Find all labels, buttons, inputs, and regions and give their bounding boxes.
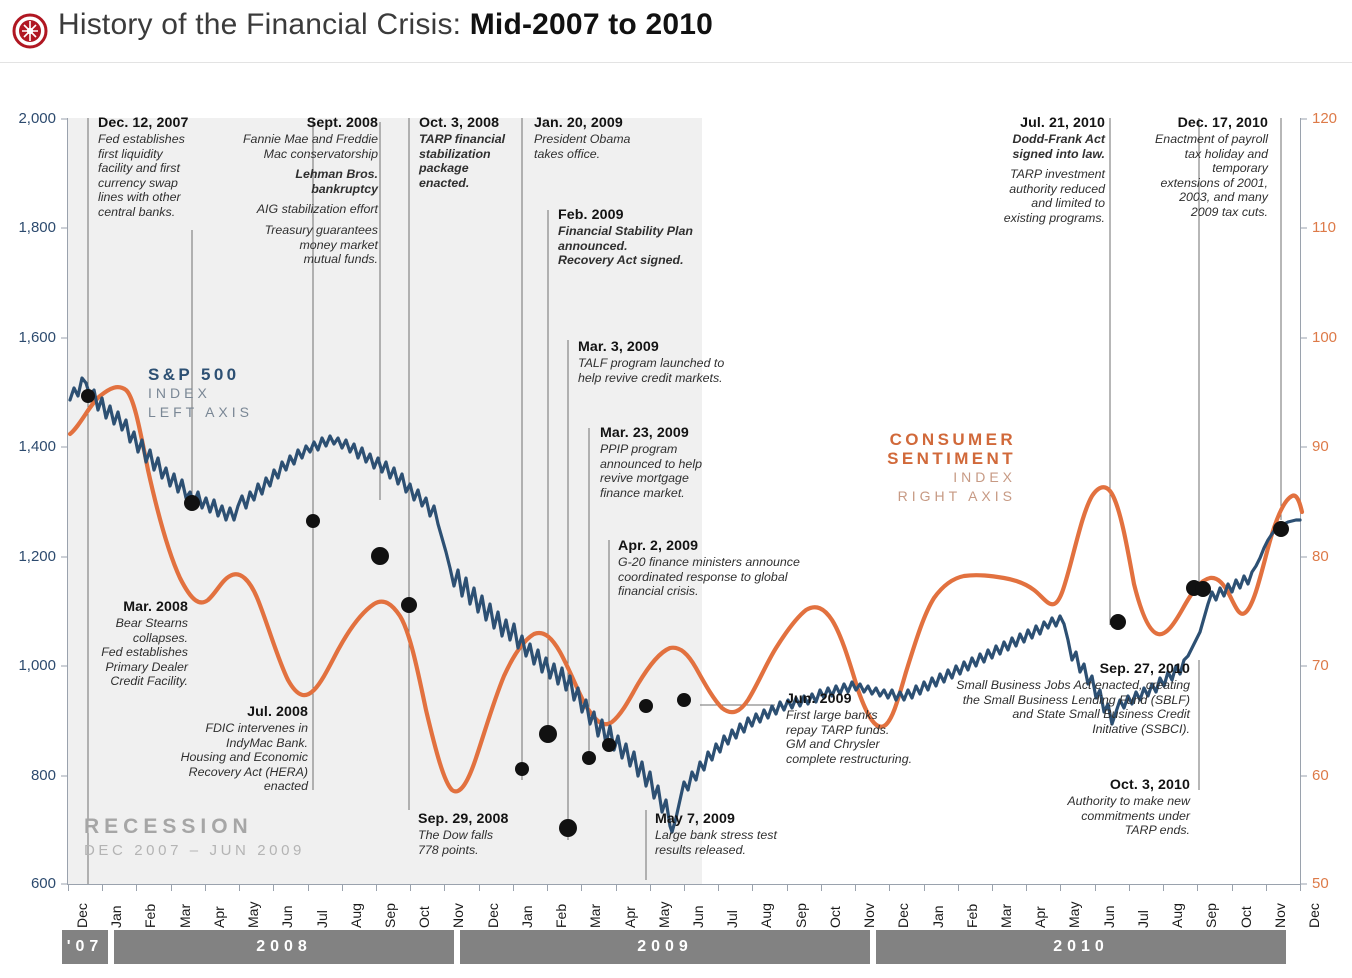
annotation-date: Jul. 21, 2010 bbox=[975, 114, 1105, 132]
annotation-line: TARP ends. bbox=[1020, 823, 1190, 838]
x-axis-month-label: Apr bbox=[211, 906, 227, 928]
annotation-line: coordinated response to global bbox=[618, 570, 833, 585]
x-axis-tick bbox=[684, 885, 685, 891]
annotation-line: and State Small Business Credit bbox=[905, 707, 1190, 722]
annotation-line: Primary Dealer bbox=[86, 660, 188, 675]
annotation-line: stabilization bbox=[419, 147, 524, 162]
left-tick-label: 1,400 bbox=[0, 438, 56, 455]
recession-range: DEC 2007 – JUN 2009 bbox=[84, 839, 305, 863]
annotation-date: Mar. 2008 bbox=[86, 598, 188, 616]
annotation-line: package bbox=[419, 161, 524, 176]
annotation-sep-29-2008: Sep. 29, 2008 The Dow falls778 points. bbox=[418, 810, 548, 857]
sentiment-axis-text: RIGHT AXIS bbox=[868, 487, 1016, 506]
annotation-body: Fannie Mae and FreddieMac conservatorshi… bbox=[218, 132, 378, 267]
sp500-index-text: INDEX bbox=[148, 384, 253, 403]
x-axis-tick bbox=[1095, 885, 1096, 891]
annotation-line: Dodd-Frank Act bbox=[975, 132, 1105, 147]
sp500-series-label: S&P 500 INDEX LEFT AXIS bbox=[148, 365, 253, 422]
x-axis-tick bbox=[1232, 885, 1233, 891]
x-axis-tick bbox=[1300, 885, 1301, 891]
left-tick-label: 1,600 bbox=[0, 329, 56, 346]
x-axis-tick bbox=[958, 885, 959, 891]
annotation-line: President Obama bbox=[534, 132, 669, 147]
annotation-body: G-20 finance ministers announcecoordinat… bbox=[618, 555, 833, 599]
annotation-line: 2003, and many bbox=[1128, 190, 1268, 205]
x-axis-month-label: Jun bbox=[690, 905, 706, 928]
x-axis-month-label: Oct bbox=[416, 906, 432, 928]
annotation-line: results released. bbox=[655, 843, 800, 858]
x-axis-tick bbox=[273, 885, 274, 891]
annotation-line: enacted. bbox=[419, 176, 524, 191]
x-axis-tick bbox=[718, 885, 719, 891]
x-axis-tick bbox=[889, 885, 890, 891]
x-axis-tick bbox=[855, 885, 856, 891]
x-axis-month-label: May bbox=[1066, 902, 1082, 928]
annotation-sep-27-2010: Sep. 27, 2010 Small Business Jobs Act en… bbox=[905, 660, 1190, 736]
year-segment: 2008 bbox=[114, 930, 454, 964]
left-tick-label: 1,800 bbox=[0, 219, 56, 236]
annotation-line: Authority to make new bbox=[1020, 794, 1190, 809]
x-axis-month-label: Dec bbox=[895, 903, 911, 928]
left-tick-label: 800 bbox=[0, 767, 56, 784]
annotation-body: Bear Stearnscollapses.Fed establishesPri… bbox=[86, 616, 188, 689]
annotation-body: Enactment of payrolltax holiday andtempo… bbox=[1128, 132, 1268, 220]
x-axis-month-label: Dec bbox=[485, 903, 501, 928]
annotation-date: Oct. 3, 2010 bbox=[1020, 776, 1190, 794]
annotation-oct-3-2008: Oct. 3, 2008 TARP financialstabilization… bbox=[419, 114, 524, 190]
x-axis-tick bbox=[513, 885, 514, 891]
left-tick-label: 1,000 bbox=[0, 657, 56, 674]
annotation-body: Small Business Jobs Act enacted, creatin… bbox=[905, 678, 1190, 736]
annotation-line: Fed establishes bbox=[86, 645, 188, 660]
annotation-line: AIG stabilization effort bbox=[218, 202, 378, 217]
x-axis-tick bbox=[1197, 885, 1198, 891]
annotation-feb-2009: Feb. 2009 Financial Stability Planannoun… bbox=[558, 206, 738, 268]
annotation-line: Recovery Act (HERA) enacted bbox=[148, 765, 308, 794]
x-axis-month-label: Nov bbox=[861, 903, 877, 928]
year-segment: '07 bbox=[62, 930, 108, 964]
annotation-line: TARP financial bbox=[419, 132, 524, 147]
sp500-name: S&P 500 bbox=[148, 365, 253, 384]
x-axis-tick bbox=[924, 885, 925, 891]
annotation-date: May 7, 2009 bbox=[655, 810, 800, 828]
annotation-line: help revive credit markets. bbox=[578, 371, 768, 386]
annotation-oct-3-2010: Oct. 3, 2010 Authority to make newcommit… bbox=[1020, 776, 1190, 838]
sentiment-name2: SENTIMENT bbox=[868, 449, 1016, 468]
annotation-line: Fed establishes bbox=[98, 132, 218, 147]
x-axis-month-label: Oct bbox=[1238, 906, 1254, 928]
sentiment-series-label: CONSUMER SENTIMENT INDEX RIGHT AXIS bbox=[868, 430, 1016, 506]
x-axis-month-label: Apr bbox=[622, 906, 638, 928]
x-axis-month-label: Jul bbox=[314, 910, 330, 928]
right-tick-label: 80 bbox=[1312, 548, 1352, 565]
annotation-line: financial crisis. bbox=[618, 584, 833, 599]
annotation-line: signed into law. bbox=[975, 147, 1105, 162]
annotation-line: TARP investment bbox=[975, 167, 1105, 182]
x-axis-tick bbox=[581, 885, 582, 891]
sp500-axis-text: LEFT AXIS bbox=[148, 403, 253, 422]
x-axis-tick bbox=[239, 885, 240, 891]
annotation-jul-2008: Jul. 2008 FDIC intervenes inIndyMac Bank… bbox=[148, 703, 308, 794]
sentiment-name: CONSUMER bbox=[868, 430, 1016, 449]
annotation-line: mutual funds. bbox=[218, 252, 378, 267]
annotation-body: Authority to make newcommitments underTA… bbox=[1020, 794, 1190, 838]
annotation-line: 2009 tax cuts. bbox=[1128, 205, 1268, 220]
annotation-dec-12-2007: Dec. 12, 2007 Fed establishesfirst liqui… bbox=[98, 114, 218, 220]
annotation-line: authority reduced bbox=[975, 182, 1105, 197]
x-axis-tick bbox=[787, 885, 788, 891]
x-axis-tick bbox=[1060, 885, 1061, 891]
annotation-line: Large bank stress test bbox=[655, 828, 800, 843]
annotation-line: finance market. bbox=[600, 486, 735, 501]
annotation-line: TALF program launched to bbox=[578, 356, 768, 371]
x-axis-month-label: Sep bbox=[382, 903, 398, 928]
annotation-mar-2008: Mar. 2008 Bear Stearnscollapses.Fed esta… bbox=[86, 598, 188, 689]
annotation-body: TARP financialstabilizationpackageenacte… bbox=[419, 132, 524, 190]
x-axis-month-label: Mar bbox=[177, 904, 193, 928]
right-tick-label: 60 bbox=[1312, 767, 1352, 784]
right-tick-label: 100 bbox=[1312, 329, 1352, 346]
x-axis-tick bbox=[342, 885, 343, 891]
annotation-line: commitments under bbox=[1020, 809, 1190, 824]
x-axis-tick bbox=[616, 885, 617, 891]
x-axis-month-label: Jan bbox=[108, 905, 124, 928]
annotation-line: money market bbox=[218, 238, 378, 253]
annotation-body: Large bank stress testresults released. bbox=[655, 828, 800, 857]
annotation-line: first liquidity bbox=[98, 147, 218, 162]
annotation-dec-17-2010: Dec. 17, 2010 Enactment of payrolltax ho… bbox=[1128, 114, 1268, 220]
annotation-line: The Dow falls bbox=[418, 828, 548, 843]
x-axis-month-label: Nov bbox=[450, 903, 466, 928]
x-axis-tick bbox=[1026, 885, 1027, 891]
x-axis-tick bbox=[136, 885, 137, 891]
x-axis-tick bbox=[1163, 885, 1164, 891]
annotation-date: Sep. 27, 2010 bbox=[905, 660, 1190, 678]
x-axis-month-label: Nov bbox=[1272, 903, 1288, 928]
x-axis-tick bbox=[821, 885, 822, 891]
annotation-body: TALF program launched tohelp revive cred… bbox=[578, 356, 768, 385]
x-axis-tick bbox=[752, 885, 753, 891]
annotation-line: revive mortgage bbox=[600, 471, 735, 486]
annotation-body: The Dow falls778 points. bbox=[418, 828, 548, 857]
x-axis-month-label: Aug bbox=[1169, 903, 1185, 928]
left-tick-label: 1,200 bbox=[0, 548, 56, 565]
annotation-line: currency swap bbox=[98, 176, 218, 191]
x-axis-month-label: Jul bbox=[724, 910, 740, 928]
annotation-line: extensions of 2001, bbox=[1128, 176, 1268, 191]
sentiment-index-text: INDEX bbox=[868, 468, 1016, 487]
annotation-line: tax holiday and bbox=[1128, 147, 1268, 162]
annotation-date: Mar. 23, 2009 bbox=[600, 424, 735, 442]
annotation-line: the Small Business Lending Fund (SBLF) bbox=[905, 693, 1190, 708]
annotation-line: Fannie Mae and Freddie bbox=[218, 132, 378, 147]
x-axis-tick bbox=[102, 885, 103, 891]
annotation-jan-20-2009: Jan. 20, 2009 President Obamatakes offic… bbox=[534, 114, 669, 161]
left-tick-label: 600 bbox=[0, 875, 56, 892]
annotation-date: Jan. 20, 2009 bbox=[534, 114, 669, 132]
annotation-line: temporary bbox=[1128, 161, 1268, 176]
x-axis-tick bbox=[1129, 885, 1130, 891]
x-axis-month-label: Apr bbox=[1032, 906, 1048, 928]
annotation-line: takes office. bbox=[534, 147, 669, 162]
annotation-jul-21-2010: Jul. 21, 2010 Dodd-Frank Actsigned into … bbox=[975, 114, 1105, 226]
annotation-mar-3-2009: Mar. 3, 2009 TALF program launched tohel… bbox=[578, 338, 768, 385]
annotation-line: Bear Stearns bbox=[86, 616, 188, 631]
annotation-line: Initiative (SSBCI). bbox=[905, 722, 1190, 737]
x-axis-month-label: Feb bbox=[142, 904, 158, 928]
x-axis-month-label: Jan bbox=[930, 905, 946, 928]
annotation-body: President Obamatakes office. bbox=[534, 132, 669, 161]
annotation-body: Financial Stability Planannounced.Recove… bbox=[558, 224, 738, 268]
x-axis-month-label: May bbox=[245, 902, 261, 928]
x-axis-month-label: Jan bbox=[519, 905, 535, 928]
x-axis-tick bbox=[376, 885, 377, 891]
annotation-date: Feb. 2009 bbox=[558, 206, 738, 224]
annotation-body: Fed establishesfirst liquidityfacility a… bbox=[98, 132, 218, 220]
annotation-line: existing programs. bbox=[975, 211, 1105, 226]
left-tick-label: 2,000 bbox=[0, 110, 56, 127]
annotation-line: central banks. bbox=[98, 205, 218, 220]
x-axis-tick bbox=[1266, 885, 1267, 891]
right-tick-label: 110 bbox=[1312, 219, 1352, 236]
x-axis-tick bbox=[479, 885, 480, 891]
x-axis-month-label: Jul bbox=[1135, 910, 1151, 928]
x-axis-tick bbox=[308, 885, 309, 891]
x-axis-month-label: Sep bbox=[1203, 903, 1219, 928]
annotation-may-7-2009: May 7, 2009 Large bank stress testresult… bbox=[655, 810, 800, 857]
x-axis-tick bbox=[992, 885, 993, 891]
x-axis-month-label: May bbox=[656, 902, 672, 928]
annotation-line: Housing and Economic bbox=[148, 750, 308, 765]
x-axis-month-label: Sep bbox=[793, 903, 809, 928]
recession-label: RECESSION DEC 2007 – JUN 2009 bbox=[84, 815, 305, 863]
annotation-body: Dodd-Frank Actsigned into law.TARP inves… bbox=[975, 132, 1105, 226]
x-axis-tick bbox=[205, 885, 206, 891]
x-axis-month-label: Feb bbox=[964, 904, 980, 928]
annotation-date: Jul. 2008 bbox=[148, 703, 308, 721]
annotation-line: facility and first bbox=[98, 161, 218, 176]
annotation-line: complete restructuring. bbox=[786, 752, 946, 767]
x-axis-tick bbox=[650, 885, 651, 891]
annotation-line: PPIP program bbox=[600, 442, 735, 457]
right-tick-label: 120 bbox=[1312, 110, 1352, 127]
x-axis-tick bbox=[171, 885, 172, 891]
annotation-line: GM and Chrysler bbox=[786, 737, 946, 752]
annotation-line: Small Business Jobs Act enacted, creatin… bbox=[905, 678, 1190, 693]
right-tick-label: 50 bbox=[1312, 875, 1352, 892]
annotation-line: Mac conservatorship bbox=[218, 147, 378, 162]
x-axis-month-label: Oct bbox=[827, 906, 843, 928]
annotation-date: Dec. 12, 2007 bbox=[98, 114, 218, 132]
x-axis-month-label: Jun bbox=[1101, 905, 1117, 928]
x-axis-month-label: Mar bbox=[998, 904, 1014, 928]
annotation-date: Oct. 3, 2008 bbox=[419, 114, 524, 132]
annotation-line: IndyMac Bank. bbox=[148, 736, 308, 751]
annotation-line: bankruptcy bbox=[218, 182, 378, 197]
annotation-date: Apr. 2, 2009 bbox=[618, 537, 833, 555]
x-axis-month-label: Aug bbox=[758, 903, 774, 928]
x-axis-month-label: Mar bbox=[587, 904, 603, 928]
annotation-line: G-20 finance ministers announce bbox=[618, 555, 833, 570]
year-segment: 2010 bbox=[876, 930, 1286, 964]
x-axis-month-label: Jun bbox=[279, 905, 295, 928]
recession-title: RECESSION bbox=[84, 815, 305, 839]
annotation-line: Credit Facility. bbox=[86, 674, 188, 689]
annotation-line: Treasury guarantees bbox=[218, 223, 378, 238]
annotation-body: FDIC intervenes inIndyMac Bank.Housing a… bbox=[148, 721, 308, 794]
annotation-mar-23-2009: Mar. 23, 2009 PPIP programannounced to h… bbox=[600, 424, 735, 500]
annotation-line: announced to help bbox=[600, 457, 735, 472]
x-axis-tick bbox=[68, 885, 69, 891]
annotation-line: announced. bbox=[558, 239, 738, 254]
annotation-sept-2008: Sept. 2008 Fannie Mae and FreddieMac con… bbox=[218, 114, 378, 267]
annotation-body: PPIP programannounced to helprevive mort… bbox=[600, 442, 735, 500]
annotation-date: Sep. 29, 2008 bbox=[418, 810, 548, 828]
right-tick-label: 90 bbox=[1312, 438, 1352, 455]
left-tick-group bbox=[61, 119, 68, 884]
annotation-line: Recovery Act signed. bbox=[558, 253, 738, 268]
x-axis-tick bbox=[410, 885, 411, 891]
x-axis-month-label: Dec bbox=[74, 903, 90, 928]
year-segment: 2009 bbox=[460, 930, 870, 964]
annotation-line: lines with other bbox=[98, 190, 218, 205]
annotation-line: 778 points. bbox=[418, 843, 548, 858]
annotation-line: and limited to bbox=[975, 196, 1105, 211]
x-axis-month-label: Aug bbox=[348, 903, 364, 928]
annotation-line: collapses. bbox=[86, 631, 188, 646]
annotation-apr-2-2009: Apr. 2, 2009 G-20 finance ministers anno… bbox=[618, 537, 833, 599]
right-tick-label: 70 bbox=[1312, 657, 1352, 674]
annotation-line: Lehman Bros. bbox=[218, 167, 378, 182]
x-axis-month-label: Feb bbox=[553, 904, 569, 928]
annotation-date: Sept. 2008 bbox=[218, 114, 378, 132]
annotation-line: Enactment of payroll bbox=[1128, 132, 1268, 147]
x-axis-tick bbox=[547, 885, 548, 891]
annotation-line: FDIC intervenes in bbox=[148, 721, 308, 736]
annotation-date: Mar. 3, 2009 bbox=[578, 338, 768, 356]
annotation-line: Financial Stability Plan bbox=[558, 224, 738, 239]
x-axis-tick bbox=[444, 885, 445, 891]
x-axis-month-label: Dec bbox=[1306, 903, 1322, 928]
annotation-date: Dec. 17, 2010 bbox=[1128, 114, 1268, 132]
